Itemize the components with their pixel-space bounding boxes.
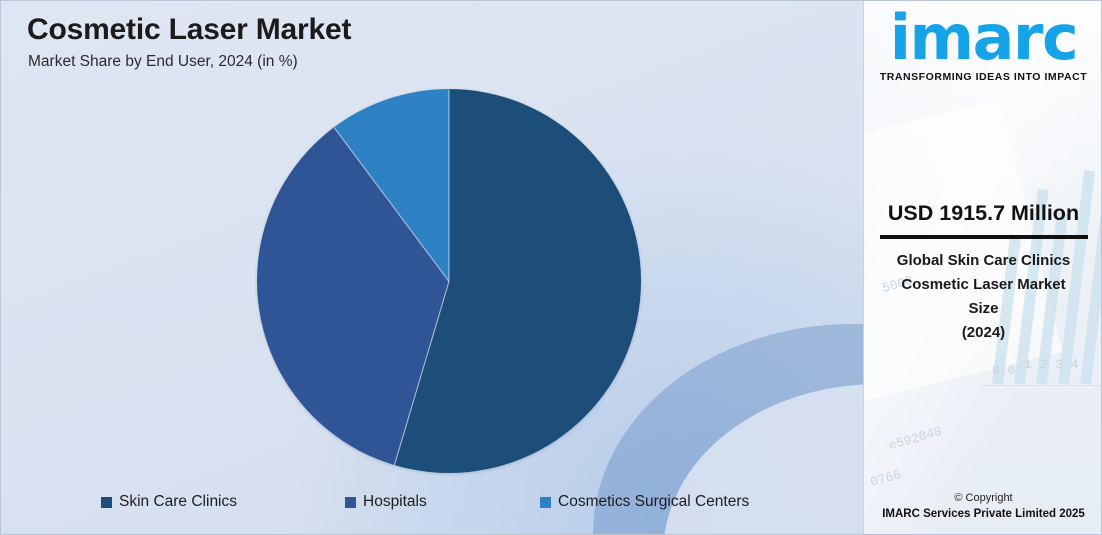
legend-item-skin-care-clinics[interactable]: Skin Care Clinics xyxy=(101,493,237,511)
imarc-logo: imarc TRANSFORMING IDEAS INTO IMPACT xyxy=(864,7,1102,83)
legend-label-skin-care-clinics: Skin Care Clinics xyxy=(119,493,237,511)
side-panel: 0.0 1 2 3 4 5000 e592048 0766 imarc TRAN… xyxy=(863,1,1102,534)
pie-chart xyxy=(257,89,649,481)
stat-divider xyxy=(880,235,1088,239)
page-subtitle: Market Share by End User, 2024 (in %) xyxy=(28,53,298,71)
legend-item-cosmetics-surgical-centers[interactable]: Cosmetics Surgical Centers xyxy=(540,493,749,511)
stat-caption-line: Global Skin Care Clinics xyxy=(864,249,1102,273)
stat-caption-line: (2024) xyxy=(864,321,1102,345)
page-title: Cosmetic Laser Market xyxy=(27,13,351,47)
stat-caption-line: Size xyxy=(864,297,1102,321)
legend-label-hospitals: Hospitals xyxy=(363,493,427,511)
legend-item-hospitals[interactable]: Hospitals xyxy=(345,493,427,511)
stat-caption-line: Cosmetic Laser Market xyxy=(864,273,1102,297)
legend-swatch-skin-care-clinics xyxy=(101,497,112,508)
stat-value: USD 1915.7 Million xyxy=(864,201,1102,226)
chart-legend: Skin Care Clinics Hospitals Cosmetics Su… xyxy=(101,493,801,517)
legend-swatch-cosmetics-surgical-centers xyxy=(540,497,551,508)
chart-panel: Cosmetic Laser Market Market Share by En… xyxy=(1,1,863,534)
pie-slice-boundary xyxy=(449,90,450,282)
company-name: IMARC Services Private Limited 2025 xyxy=(864,506,1102,522)
stat-block: USD 1915.7 Million Global Skin Care Clin… xyxy=(864,201,1102,345)
logo-wordmark: imarc xyxy=(864,7,1102,69)
legend-label-cosmetics-surgical-centers: Cosmetics Surgical Centers xyxy=(558,493,749,511)
bg-axis-line xyxy=(982,385,1102,386)
legend-swatch-hospitals xyxy=(345,497,356,508)
copyright-text: © Copyright xyxy=(864,490,1102,506)
footer: © Copyright IMARC Services Private Limit… xyxy=(864,490,1102,522)
logo-tagline: TRANSFORMING IDEAS INTO IMPACT xyxy=(864,71,1102,83)
infographic-canvas: Cosmetic Laser Market Market Share by En… xyxy=(0,0,1102,535)
